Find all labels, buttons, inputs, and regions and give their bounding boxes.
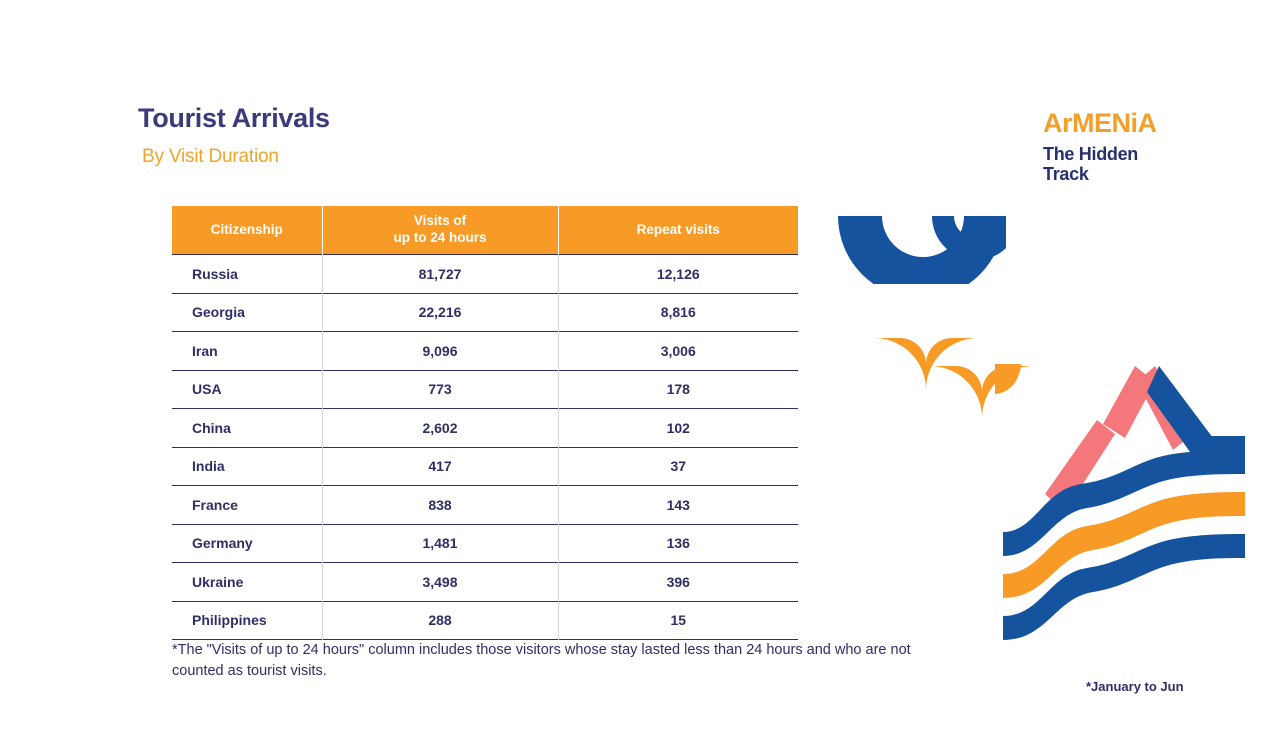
- column-header-visits-24h-line1: Visits of: [414, 213, 466, 228]
- logo-tagline: The Hidden Track: [1043, 144, 1223, 184]
- table-row: Russia81,72712,126: [172, 255, 798, 294]
- cell-citizenship: Russia: [172, 255, 322, 294]
- cell-citizenship: Georgia: [172, 293, 322, 332]
- cell-visits_up_to_24h: 3,498: [322, 563, 558, 602]
- table-header: Citizenship Visits of up to 24 hours Rep…: [172, 206, 798, 255]
- mountain-waves-emblem-icon: [995, 362, 1245, 642]
- table-header-row: Citizenship Visits of up to 24 hours Rep…: [172, 206, 798, 255]
- table-row: Ukraine3,498396: [172, 563, 798, 602]
- column-header-citizenship-label: Citizenship: [211, 222, 283, 237]
- table-row: USA773178: [172, 370, 798, 409]
- cell-citizenship: France: [172, 486, 322, 525]
- table-footnote: *The "Visits of up to 24 hours" column i…: [172, 640, 942, 682]
- column-header-repeat-visits-label: Repeat visits: [637, 222, 720, 237]
- cell-repeat_visits: 102: [558, 409, 798, 448]
- logo-brand-text: ArMENiA: [1043, 110, 1223, 137]
- cell-visits_up_to_24h: 288: [322, 601, 558, 640]
- tourist-arrivals-table: Citizenship Visits of up to 24 hours Rep…: [172, 206, 798, 640]
- cell-repeat_visits: 12,126: [558, 255, 798, 294]
- cell-visits_up_to_24h: 22,216: [322, 293, 558, 332]
- cell-repeat_visits: 37: [558, 447, 798, 486]
- cell-visits_up_to_24h: 9,096: [322, 332, 558, 371]
- column-header-repeat-visits: Repeat visits: [558, 206, 798, 255]
- cell-repeat_visits: 136: [558, 524, 798, 563]
- table-row: India41737: [172, 447, 798, 486]
- coral-slope-upper: [1103, 366, 1155, 438]
- cell-citizenship: Iran: [172, 332, 322, 371]
- cell-visits_up_to_24h: 773: [322, 370, 558, 409]
- column-header-visits-24h: Visits of up to 24 hours: [322, 206, 558, 255]
- cell-repeat_visits: 143: [558, 486, 798, 525]
- cell-repeat_visits: 8,816: [558, 293, 798, 332]
- page-subtitle: By Visit Duration: [142, 146, 279, 168]
- cell-visits_up_to_24h: 2,602: [322, 409, 558, 448]
- cell-citizenship: India: [172, 447, 322, 486]
- table-row: Iran9,0963,006: [172, 332, 798, 371]
- period-note: *January to Jun: [1086, 679, 1184, 694]
- cell-repeat_visits: 3,006: [558, 332, 798, 371]
- cell-citizenship: USA: [172, 370, 322, 409]
- logo-tagline-line2: Track: [1043, 164, 1223, 184]
- page-title: Tourist Arrivals: [138, 103, 330, 134]
- table-row: Philippines28815: [172, 601, 798, 640]
- cell-repeat_visits: 178: [558, 370, 798, 409]
- cell-visits_up_to_24h: 417: [322, 447, 558, 486]
- cell-visits_up_to_24h: 1,481: [322, 524, 558, 563]
- orange-bird-upper-shape: [874, 338, 978, 390]
- cell-repeat_visits: 15: [558, 601, 798, 640]
- table-row: France838143: [172, 486, 798, 525]
- cell-visits_up_to_24h: 838: [322, 486, 558, 525]
- table-row: Germany1,481136: [172, 524, 798, 563]
- slide-canvas: Tourist Arrivals By Visit Duration ArMEN…: [0, 0, 1280, 747]
- cell-repeat_visits: 396: [558, 563, 798, 602]
- table-row: China2,602102: [172, 409, 798, 448]
- cell-citizenship: China: [172, 409, 322, 448]
- cell-citizenship: Ukraine: [172, 563, 322, 602]
- armenia-logo: ArMENiA The Hidden Track: [1043, 110, 1223, 184]
- logo-tagline-line1: The Hidden: [1043, 144, 1223, 164]
- column-header-visits-24h-line2: up to 24 hours: [323, 230, 558, 247]
- orange-arc-fragment-2: [995, 364, 1019, 394]
- column-header-citizenship: Citizenship: [172, 206, 322, 255]
- navy-birds-icon: [836, 214, 1006, 284]
- cell-citizenship: Philippines: [172, 601, 322, 640]
- cell-citizenship: Germany: [172, 524, 322, 563]
- cell-visits_up_to_24h: 81,727: [322, 255, 558, 294]
- table-row: Georgia22,2168,816: [172, 293, 798, 332]
- table-body: Russia81,72712,126Georgia22,2168,816Iran…: [172, 255, 798, 640]
- navy-wave-lower: [1003, 534, 1245, 640]
